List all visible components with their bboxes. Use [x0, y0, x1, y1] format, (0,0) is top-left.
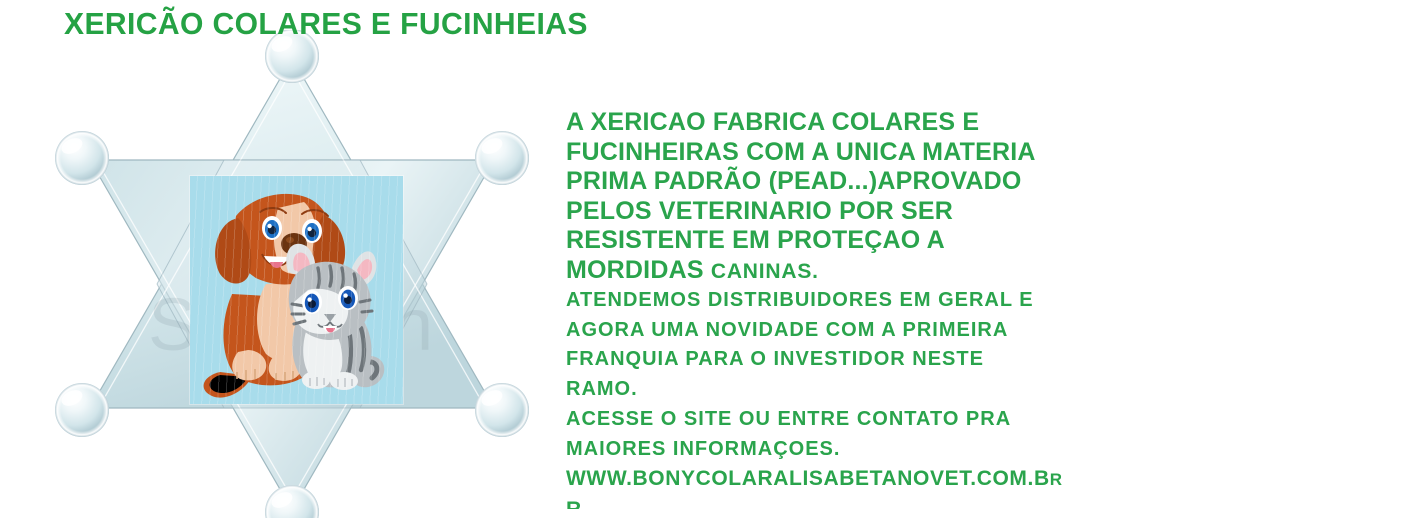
ball-upper-right [475, 131, 529, 185]
ball-upper-left [55, 131, 109, 185]
body-line-6: MAIORES INFORMAÇOES. [566, 438, 840, 460]
website-url-tail: R [1050, 470, 1063, 489]
lead-line-6: MORDIDAS [566, 256, 711, 284]
website-url-main: WWW.BONYCOLARALISABETANOVET.COM.B [566, 467, 1050, 490]
slide-canvas: S sh [0, 0, 1408, 518]
clipped-overflow-line: R [566, 495, 1202, 509]
lead-line-2: FUCINHEIRAS COM A UNICA MATERIA [566, 138, 1036, 166]
copy-paragraph-lead: A XERICAO FABRICA COLARES E FUCINHEIRAS … [566, 108, 1202, 286]
ball-lower-right [475, 383, 529, 437]
ball-bottom [265, 485, 319, 518]
pet-photo [190, 176, 403, 404]
page-title: XERICÃO COLARES E FUCINHEIAS [64, 6, 588, 42]
marketing-copy: A XERICAO FABRICA COLARES E FUCINHEIRAS … [566, 108, 1202, 509]
ball-lower-left [55, 383, 109, 437]
dog-and-cat-illustration [190, 176, 403, 404]
lead-line-3: PRIMA PADRÃO (PEAD...)APROVADO [566, 167, 1022, 195]
body-line-1: ATENDEMOS DISTRIBUIDORES EM GERAL E [566, 289, 1034, 311]
website-url[interactable]: WWW.BONYCOLARALISABETANOVET.COM.BR [566, 464, 1202, 495]
copy-paragraph-distributors: ATENDEMOS DISTRIBUIDORES EM GERAL E AGOR… [566, 286, 1202, 464]
lead-line-5: RESISTENTE EM PROTEÇAO A [566, 226, 945, 254]
body-line-5: ACESSE O SITE OU ENTRE CONTATO PRA [566, 408, 1011, 430]
body-line-2: AGORA UMA NOVIDADE COM A PRIMEIRA [566, 319, 1008, 341]
body-line-3: FRANQUIA PARA O INVESTIDOR NESTE [566, 348, 984, 370]
lead-line-4: PELOS VETERINARIO POR SER [566, 197, 953, 225]
lead-line-1: A XERICAO FABRICA COLARES E [566, 108, 979, 136]
body-line-4: RAMO. [566, 378, 638, 400]
lead-line-6-tail: CANINAS. [711, 260, 819, 283]
